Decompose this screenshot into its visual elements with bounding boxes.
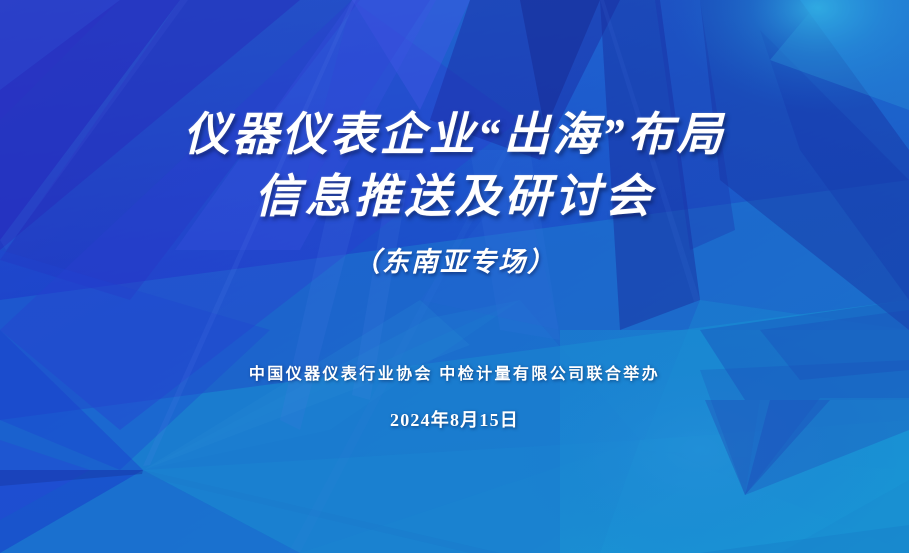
organizer-line: 中国仪器仪表行业协会 中检计量有限公司联合举办	[0, 360, 909, 384]
poster-title: 仪器仪表企业“出海”布局 信息推送及研讨会	[0, 104, 909, 228]
poster-subtitle: （东南亚专场）	[0, 240, 909, 279]
event-date: 2024年8月15日	[0, 406, 909, 432]
title-line-1: 仪器仪表企业“出海”布局	[0, 104, 909, 166]
poster-content: 仪器仪表企业“出海”布局 信息推送及研讨会 （东南亚专场） 中国仪器仪表行业协会…	[0, 0, 909, 553]
title-line-2: 信息推送及研讨会	[0, 166, 909, 228]
poster-canvas: 仪器仪表企业“出海”布局 信息推送及研讨会 （东南亚专场） 中国仪器仪表行业协会…	[0, 0, 909, 553]
